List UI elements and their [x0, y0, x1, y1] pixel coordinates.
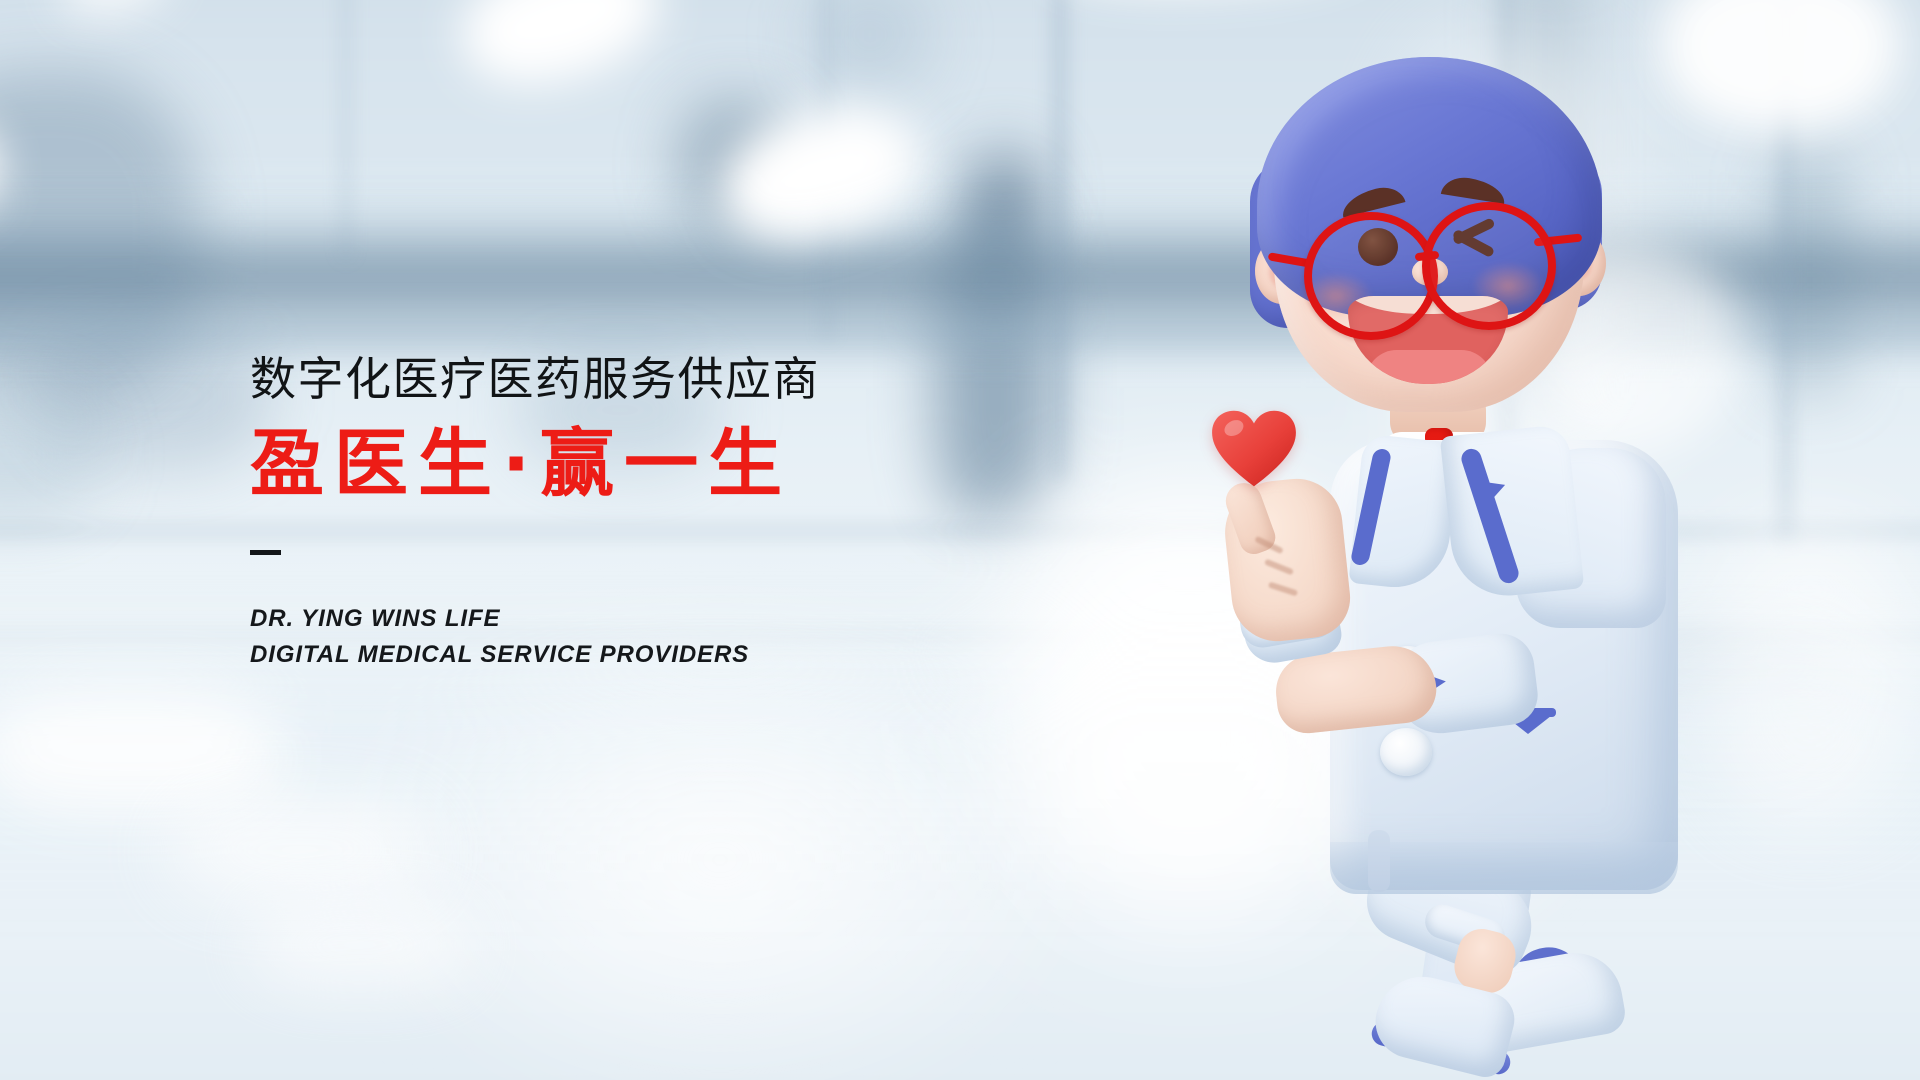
hero-headline: 盈医生·赢一生: [250, 424, 1070, 505]
page-title: 数字化医疗医药服务供应商: [250, 352, 1070, 406]
hero-banner: 数字化医疗医药服务供应商 盈医生·赢一生 DR. YING WINS LIFE …: [0, 0, 1920, 1080]
hero-copy: 数字化医疗医药服务供应商 盈医生·赢一生 DR. YING WINS LIFE …: [250, 352, 1070, 674]
tongue: [1366, 350, 1492, 384]
glasses-lens-left: [1304, 212, 1438, 340]
doctor-mascot: [1180, 50, 1680, 1080]
floor-glow-3: [250, 900, 470, 990]
glasses-icon: [1266, 200, 1596, 330]
floor-glow-2: [170, 800, 430, 900]
floor-glow-right: [1710, 520, 1910, 820]
subtitle-line-2: DIGITAL MEDICAL SERVICE PROVIDERS: [250, 637, 1070, 673]
glasses-lens-right: [1422, 202, 1556, 330]
coat-split: [1368, 830, 1390, 892]
divider-rule: [250, 550, 281, 555]
subtitle-line-1: DR. YING WINS LIFE: [250, 601, 1070, 637]
hero-subtitle: DR. YING WINS LIFE DIGITAL MEDICAL SERVI…: [250, 601, 1070, 674]
heart-icon: [1208, 408, 1300, 490]
bg-structure-left-low: [0, 390, 100, 520]
floor-glow-1: [0, 690, 280, 810]
glass-mullion-4: [340, 0, 352, 260]
coat-button-2: [1380, 728, 1432, 776]
